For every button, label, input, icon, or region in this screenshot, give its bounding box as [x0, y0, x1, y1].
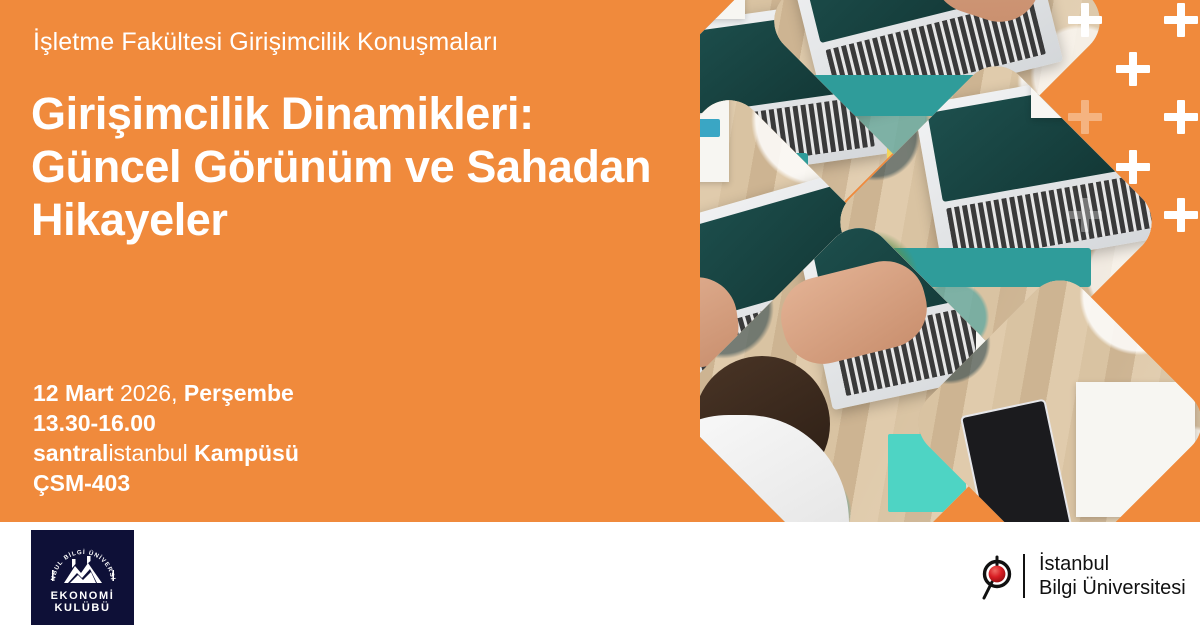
plus-decoration-icon: [1116, 150, 1150, 184]
event-campus-row: santralistanbul Kampüsü: [33, 438, 299, 468]
plus-decoration-icon: [1068, 100, 1102, 134]
event-year: 2026,: [120, 380, 178, 406]
bilgi-pin-icon: [975, 551, 1019, 601]
plus-decoration-icon: [1068, 198, 1102, 232]
poster-footer: İSTANBUL BİLGİ ÜNİVERSİTESİ EKONOMİ KULÜ…: [0, 522, 1200, 628]
poster-headline: Girişimcilik Dinamikleri: Güncel Görünüm…: [31, 87, 751, 246]
poster-eyebrow: İşletme Fakültesi Girişimcilik Konuşmala…: [33, 28, 498, 57]
plus-decoration-icon: [1116, 52, 1150, 86]
university-name-line-1: İstanbul: [1039, 552, 1186, 576]
event-poster: İşletme Fakültesi Girişimcilik Konuşmala…: [0, 0, 1200, 628]
ekonomi-kulubu-logo: İSTANBUL BİLGİ ÜNİVERSİTESİ EKONOMİ KULÜ…: [31, 530, 134, 625]
headline-line-2: Güncel Görünüm ve Sahadan: [31, 140, 751, 193]
event-time: 13.30-16.00: [33, 408, 299, 438]
university-logo: İstanbul Bilgi Üniversitesi: [975, 548, 1186, 604]
photo-collage: [700, 0, 1200, 522]
club-name-line-2: KULÜBÜ: [51, 602, 115, 614]
event-date: 12 Mart: [33, 380, 114, 406]
plus-decoration-icon: [1164, 3, 1198, 37]
club-name: EKONOMİ KULÜBÜ: [51, 590, 115, 614]
poster-banner: İşletme Fakültesi Girişimcilik Konuşmala…: [0, 0, 1200, 522]
phone-icon: [960, 399, 1073, 522]
campus-istanbul: istanbul: [108, 440, 187, 466]
logo-divider: [1023, 554, 1025, 598]
event-date-row: 12 Mart 2026, Perşembe: [33, 378, 299, 408]
event-weekday: Perşembe: [184, 380, 294, 406]
university-name: İstanbul Bilgi Üniversitesi: [1039, 552, 1186, 600]
plus-decoration-icon: [1164, 198, 1198, 232]
plus-decoration-icon: [1068, 3, 1102, 37]
event-room: ÇSM-403: [33, 468, 299, 498]
campus-suffix: Kampüsü: [194, 440, 299, 466]
university-name-line-2: Bilgi Üniversitesi: [1039, 576, 1186, 600]
event-details: 12 Mart 2026, Perşembe 13.30-16.00 santr…: [33, 378, 299, 498]
mountain-emblem-icon: İSTANBUL BİLGİ ÜNİVERSİTESİ: [47, 542, 119, 588]
headline-line-1: Girişimcilik Dinamikleri:: [31, 87, 751, 140]
campus-santral: santral: [33, 440, 108, 466]
club-name-line-1: EKONOMİ: [51, 590, 115, 602]
plus-decoration-icon: [1164, 100, 1198, 134]
headline-line-3: Hikayeler: [31, 193, 751, 246]
